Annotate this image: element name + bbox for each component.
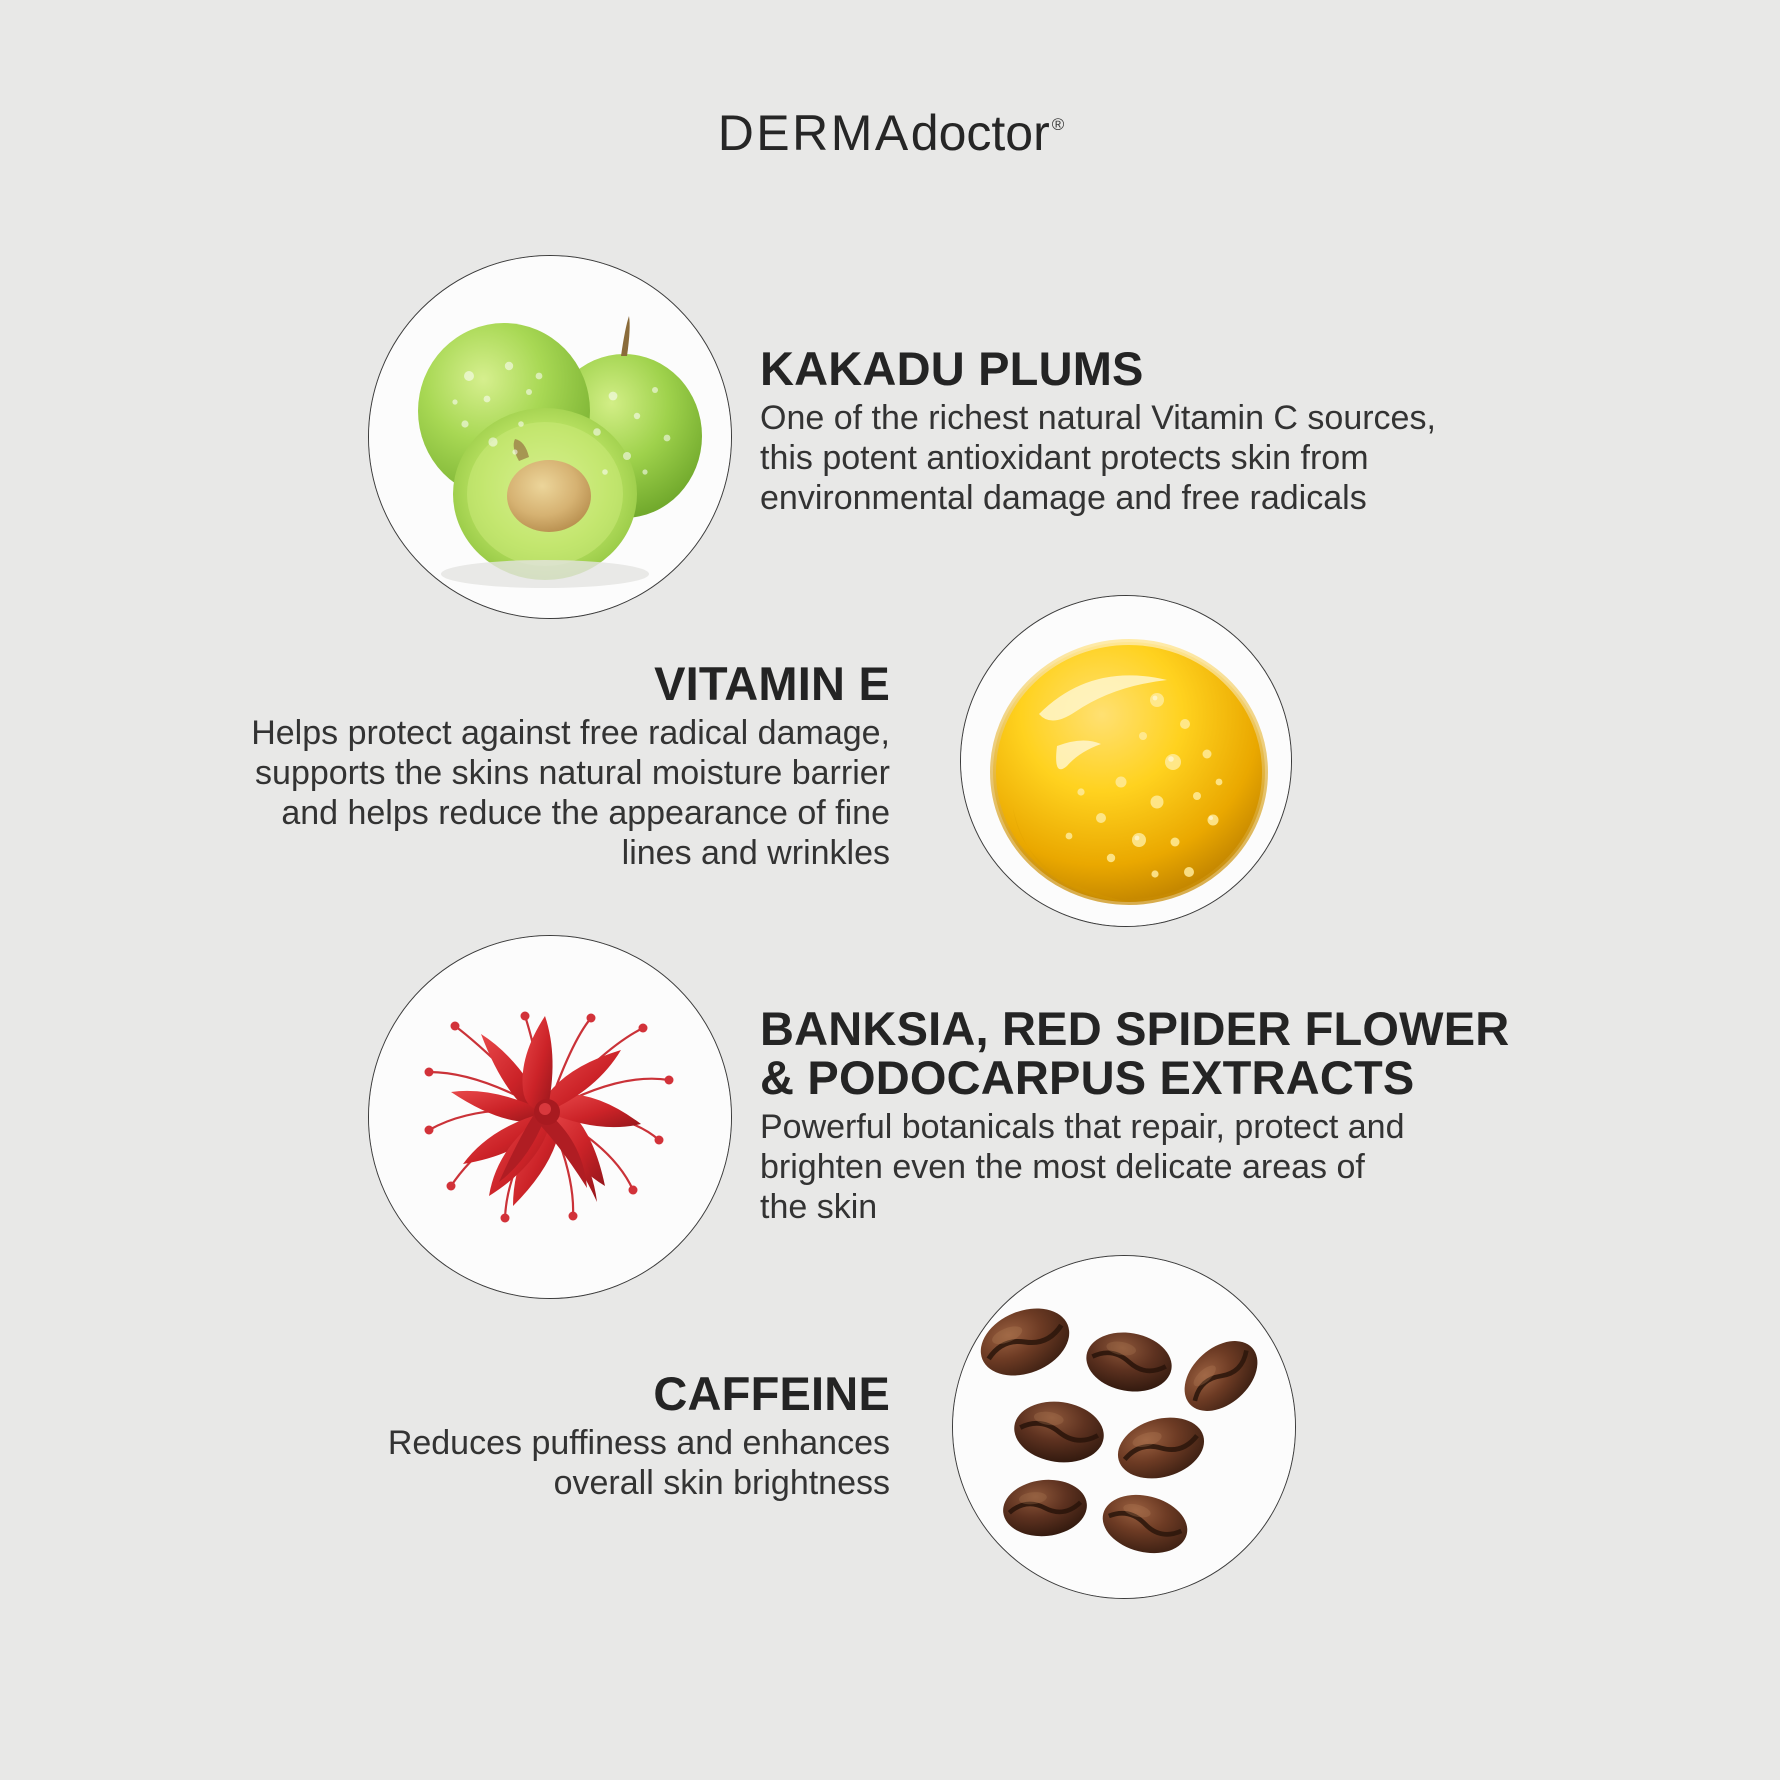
registered-trademark-icon: ® [1052,115,1065,134]
ingredient-description-banksia-red-spider-podocarpus: Powerful botanicals that repair, protect… [760,1107,1590,1227]
brand-name-light: doctor [911,105,1050,161]
kakadu-plum-photo [369,256,731,618]
body-line: overall skin brightness [235,1463,890,1503]
ingredient-description-vitamin-e: Helps protect against free radical damag… [100,713,890,873]
ingredient-vitamin-e: VITAMIN E Helps protect against free rad… [100,660,890,873]
body-line: Reduces puffiness and enhances [235,1423,890,1463]
title-line: & PODOCARPUS EXTRACTS [760,1054,1590,1103]
title-line: BANKSIA, RED SPIDER FLOWER [760,1005,1590,1054]
ingredient-description-kakadu-plums: One of the richest natural Vitamin C sou… [760,398,1590,518]
ingredient-kakadu-plums: KAKADU PLUMS One of the richest natural … [760,345,1590,518]
body-line: brighten even the most delicate areas of [760,1147,1590,1187]
body-line: this potent antioxidant protects skin fr… [760,438,1590,478]
ingredient-title-banksia-red-spider-podocarpus: BANKSIA, RED SPIDER FLOWER & PODOCARPUS … [760,1005,1590,1103]
ingredient-title-kakadu-plums: KAKADU PLUMS [760,345,1590,394]
red-spider-flower-photo [369,936,731,1298]
brand-logo: DERMAdoctor® [0,104,1780,162]
ingredient-banksia-red-spider-podocarpus: BANKSIA, RED SPIDER FLOWER & PODOCARPUS … [760,1005,1590,1227]
body-line: supports the skins natural moisture barr… [100,753,890,793]
red-spider-flower-photo-circle [368,935,732,1299]
body-line: the skin [760,1187,1590,1227]
coffee-beans-photo [953,1256,1295,1598]
brand-name-bold: DERMA [718,105,911,161]
ingredient-caffeine: CAFFEINE Reduces puffiness and enhances … [235,1370,890,1503]
title-line: CAFFEINE [235,1370,890,1419]
body-line: Powerful botanicals that repair, protect… [760,1107,1590,1147]
brand-logo-text: DERMAdoctor [718,105,1050,161]
body-line: One of the richest natural Vitamin C sou… [760,398,1590,438]
ingredient-title-vitamin-e: VITAMIN E [100,660,890,709]
kakadu-plum-photo-circle [368,255,732,619]
coffee-beans-photo-circle [952,1255,1296,1599]
ingredient-title-caffeine: CAFFEINE [235,1370,890,1419]
ingredient-description-caffeine: Reduces puffiness and enhances overall s… [235,1423,890,1503]
infographic-canvas: DERMAdoctor® [0,0,1780,1780]
title-line: KAKADU PLUMS [760,345,1590,394]
body-line: and helps reduce the appearance of fine [100,793,890,833]
body-line: environmental damage and free radicals [760,478,1590,518]
vitamin-e-oil-drop-photo-circle [960,595,1292,927]
title-line: VITAMIN E [100,660,890,709]
body-line: lines and wrinkles [100,833,890,873]
vitamin-e-oil-drop-photo [961,596,1291,926]
body-line: Helps protect against free radical damag… [100,713,890,753]
